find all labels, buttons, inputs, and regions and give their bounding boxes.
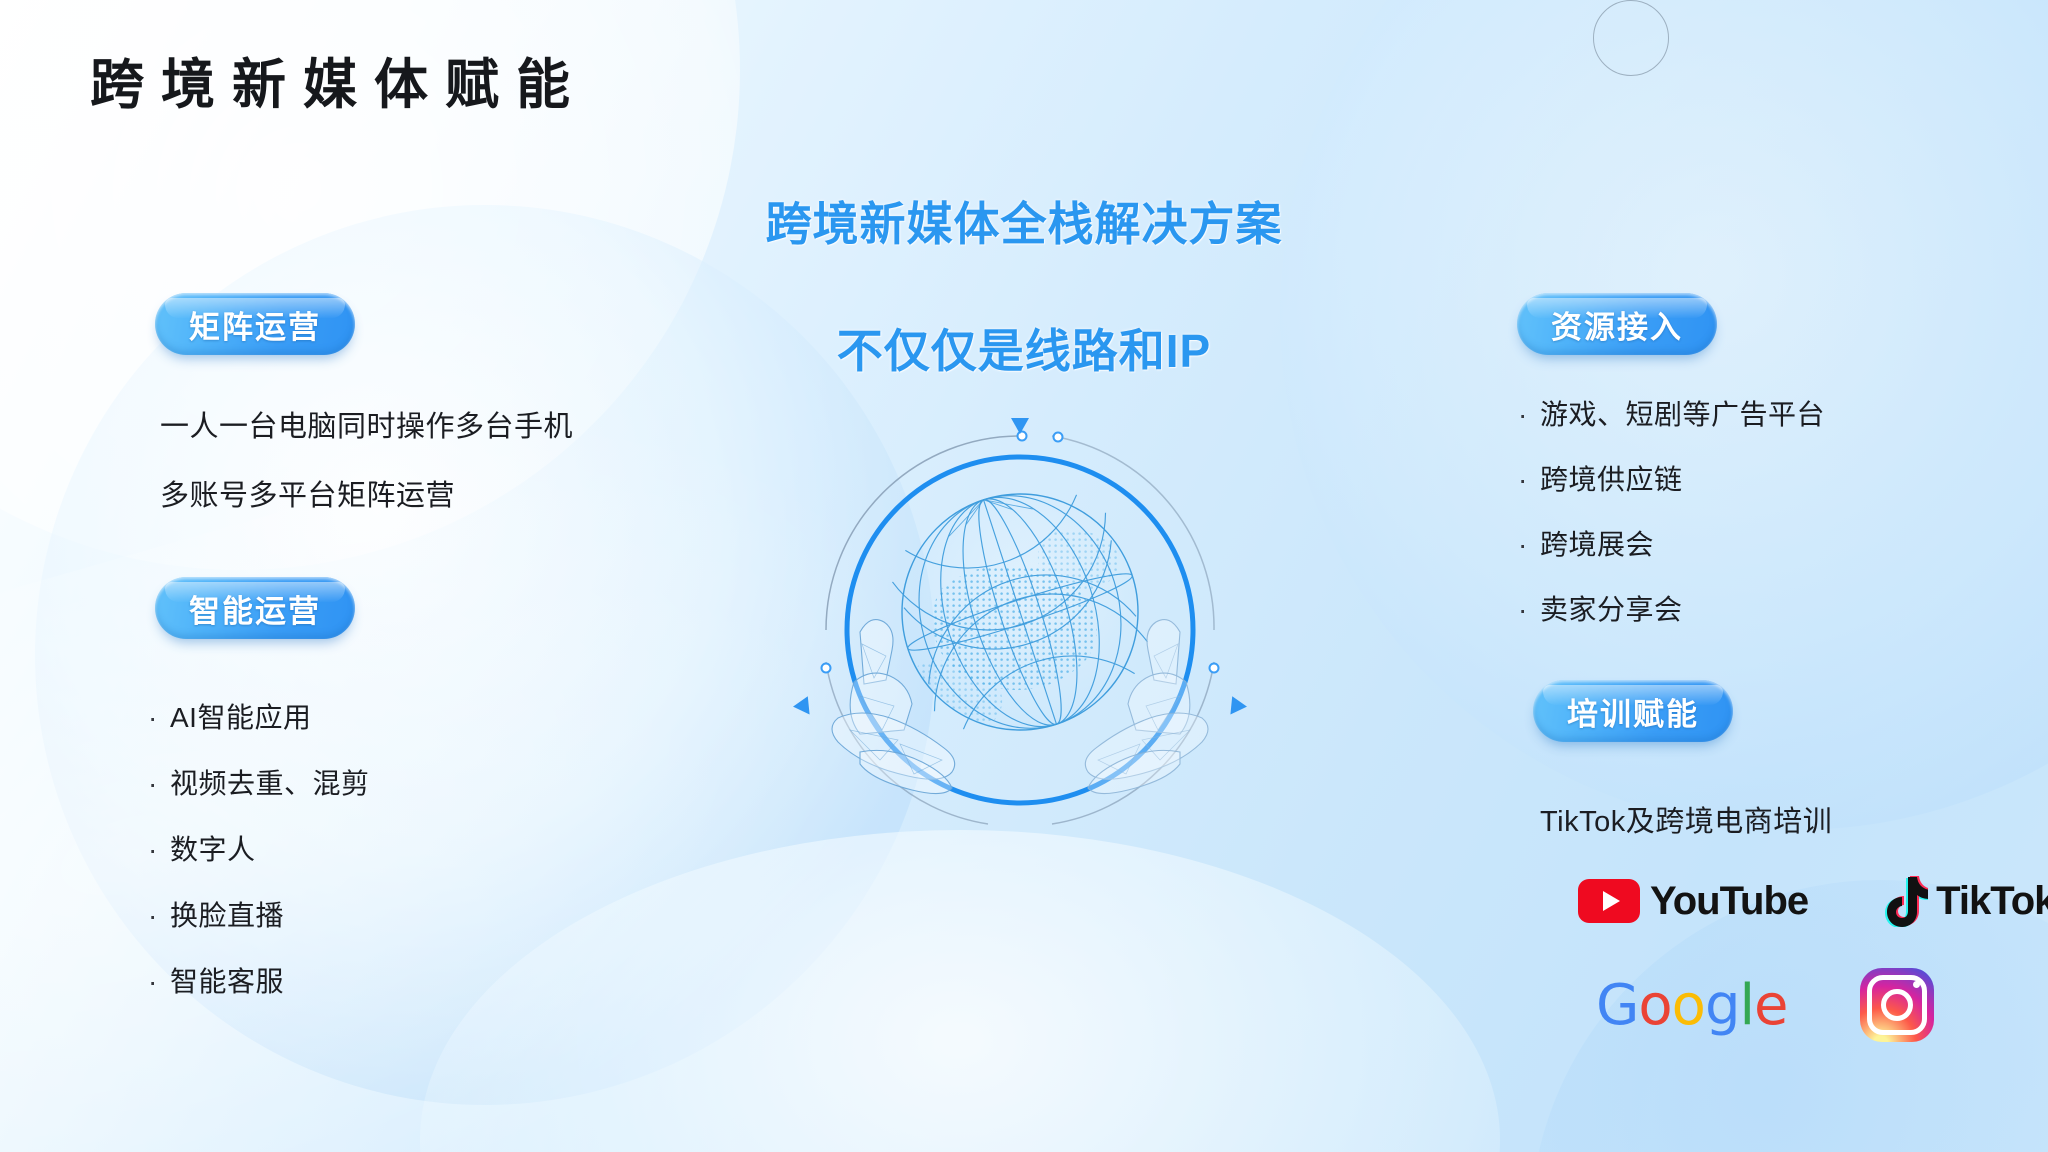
bullet-marker: · [148,966,170,998]
list-item: ·AI智能应用 [148,696,311,736]
bullet-marker: · [148,702,170,734]
google-logo-icon[interactable]: Google [1596,973,1788,1038]
logo-row-bottom: Google [1596,968,1934,1042]
tiktok-logo-icon[interactable]: TikTok [1880,875,2048,927]
list-item: ·卖家分享会 [1518,588,1683,628]
google-letter-l: l [1739,973,1754,1038]
instagram-logo-icon[interactable] [1860,968,1934,1042]
right-text-line-1: TikTok及跨境电商培训 [1540,798,1832,840]
left-text-line-2: 多账号多平台矩阵运营 [160,472,455,514]
center-heading: 跨境新媒体全栈解决方案 [0,188,2048,254]
pill-smart-operations[interactable]: 智能运营 [155,577,355,639]
list-item-label: 智能客服 [170,966,284,997]
bullet-marker: · [148,834,170,866]
globe-illustration-icon [790,400,1250,860]
pill-label: 智能运营 [189,586,321,631]
list-item: ·换脸直播 [148,894,284,934]
list-item: ·跨境供应链 [1518,458,1683,498]
play-triangle-icon [1603,891,1620,911]
list-item-label: 视频去重、混剪 [170,768,370,799]
google-letter-e: e [1754,973,1787,1038]
google-letter-g: g [1705,973,1740,1038]
background-blob-bottom [420,830,1500,1152]
pill-resource-access[interactable]: 资源接入 [1517,293,1717,355]
pill-label: 培训赋能 [1567,689,1699,734]
list-item-label: 数字人 [170,834,256,865]
list-item-label: AI智能应用 [170,702,311,733]
list-item-label: 卖家分享会 [1540,594,1683,625]
bullet-marker: · [1518,529,1540,561]
instagram-flash-dot-icon [1913,981,1920,988]
bullet-marker: · [1518,464,1540,496]
slide-canvas: 跨境新媒体赋能 跨境新媒体全栈解决方案 不仅仅是线路和IP [0,0,2048,1152]
youtube-play-badge-icon [1578,879,1640,923]
list-item-label: 换脸直播 [170,900,284,931]
google-letter-G: G [1596,973,1638,1038]
globe-in-hands-graphic [790,400,1250,860]
pill-label: 矩阵运营 [189,302,321,347]
pill-training-empowerment[interactable]: 培训赋能 [1533,680,1733,742]
page-title: 跨境新媒体赋能 [90,40,587,119]
instagram-lens-icon [1881,989,1913,1021]
pill-label: 资源接入 [1551,302,1683,347]
list-item: ·游戏、短剧等广告平台 [1518,393,1825,433]
list-item: ·数字人 [148,828,256,868]
bullet-marker: · [148,768,170,800]
pill-matrix-operations[interactable]: 矩阵运营 [155,293,355,355]
list-item-label: 跨境供应链 [1540,464,1683,495]
list-item: ·智能客服 [148,960,284,1000]
tiktok-note-icon [1880,875,1928,927]
list-item-label: 跨境展会 [1540,529,1654,560]
bullet-marker: · [1518,399,1540,431]
left-text-line-1: 一人一台电脑同时操作多台手机 [160,403,573,445]
bullet-marker: · [1518,594,1540,626]
google-letter-o1: o [1638,973,1671,1038]
list-item: ·跨境展会 [1518,523,1654,563]
bullet-marker: · [148,900,170,932]
logo-row-top: YouTube TikTok [1578,875,2048,927]
tiktok-wordmark: TikTok [1936,879,2048,924]
list-item: ·视频去重、混剪 [148,762,370,802]
decorative-ring-icon [1593,0,1669,76]
youtube-wordmark: YouTube [1650,879,1808,924]
list-item-label: 游戏、短剧等广告平台 [1540,399,1825,430]
youtube-logo-icon[interactable]: YouTube [1578,879,1808,924]
google-letter-o2: o [1672,973,1705,1038]
